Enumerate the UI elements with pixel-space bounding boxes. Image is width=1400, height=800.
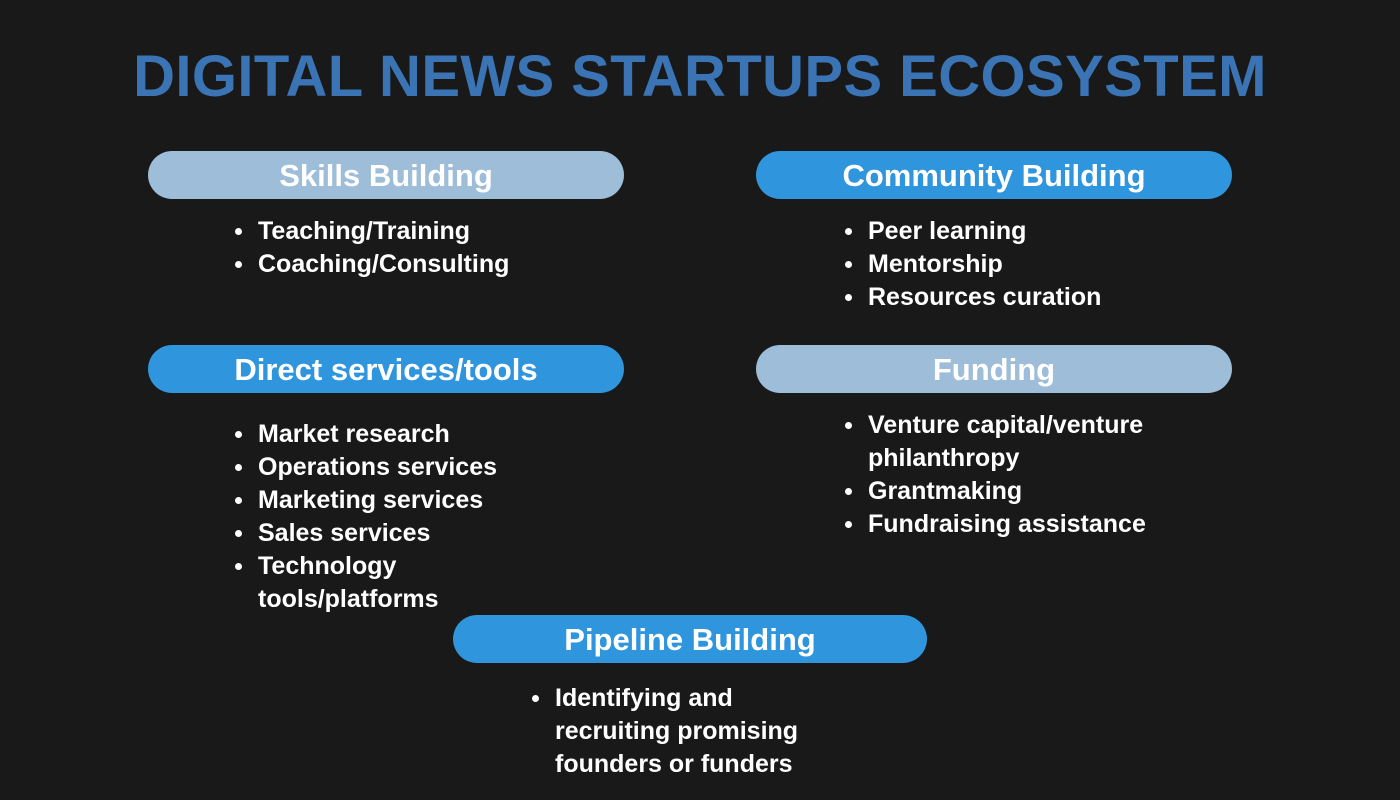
list-item: Sales services bbox=[235, 517, 535, 550]
section-header-pipeline-building[interactable]: Pipeline Building bbox=[453, 615, 927, 663]
list-item: Marketing services bbox=[235, 484, 535, 517]
section-header-community-building[interactable]: Community Building bbox=[756, 151, 1232, 199]
list-item: Resources curation bbox=[845, 281, 1205, 314]
bullet-list-funding: Venture capital/venture philanthropy Gra… bbox=[845, 409, 1175, 541]
section-header-funding[interactable]: Funding bbox=[756, 345, 1232, 393]
list-item: Operations services bbox=[235, 451, 535, 484]
list-item: Market research bbox=[235, 418, 535, 451]
bullet-list-direct-services-tools: Market research Operations services Mark… bbox=[235, 418, 535, 616]
list-item: Technology tools/platforms bbox=[235, 550, 535, 616]
bullet-list-skills-building: Teaching/Training Coaching/Consulting bbox=[235, 215, 595, 281]
slide-canvas: DIGITAL NEWS STARTUPS ECOSYSTEM Skills B… bbox=[0, 0, 1400, 800]
bullet-list-pipeline-building: Identifying and recruiting promising fou… bbox=[532, 682, 832, 781]
section-label: Community Building bbox=[842, 160, 1145, 191]
section-header-direct-services-tools[interactable]: Direct services/tools bbox=[148, 345, 624, 393]
page-title: DIGITAL NEWS STARTUPS ECOSYSTEM bbox=[0, 42, 1400, 112]
section-label: Pipeline Building bbox=[564, 624, 815, 655]
list-item: Identifying and recruiting promising fou… bbox=[532, 682, 832, 781]
list-item: Fundraising assistance bbox=[845, 508, 1175, 541]
list-item: Coaching/Consulting bbox=[235, 248, 595, 281]
list-item: Teaching/Training bbox=[235, 215, 595, 248]
list-item: Grantmaking bbox=[845, 475, 1175, 508]
list-item: Peer learning bbox=[845, 215, 1205, 248]
section-label: Skills Building bbox=[279, 160, 493, 191]
section-label: Funding bbox=[933, 354, 1055, 385]
list-item: Venture capital/venture philanthropy bbox=[845, 409, 1175, 475]
bullet-list-community-building: Peer learning Mentorship Resources curat… bbox=[845, 215, 1205, 314]
section-header-skills-building[interactable]: Skills Building bbox=[148, 151, 624, 199]
section-label: Direct services/tools bbox=[234, 354, 537, 385]
list-item: Mentorship bbox=[845, 248, 1205, 281]
